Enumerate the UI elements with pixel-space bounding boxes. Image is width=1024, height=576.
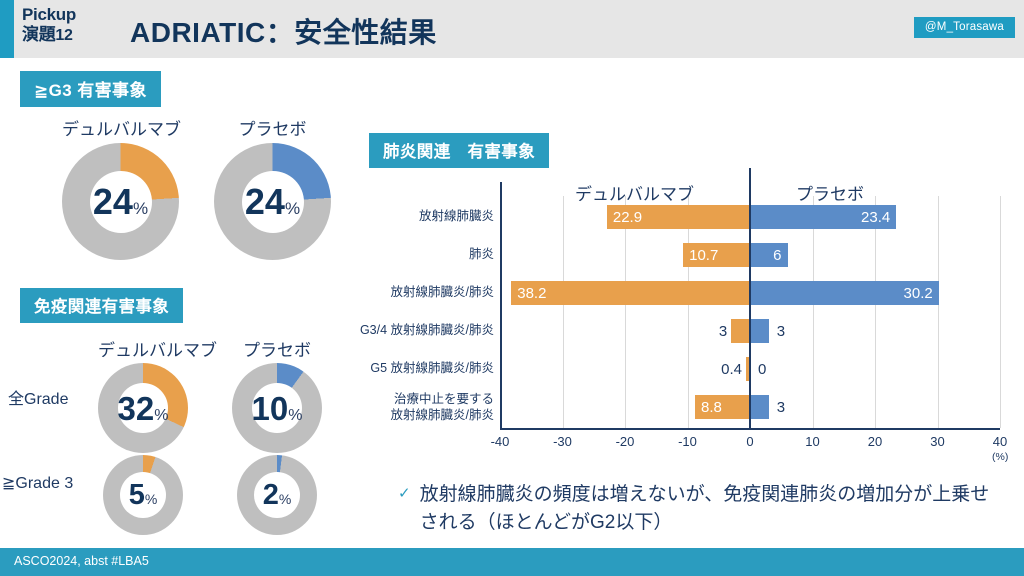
chart-bar-durvalumab: 3 xyxy=(731,319,750,343)
donut-chart: プラセボ10% xyxy=(232,363,322,453)
chart-bar-placebo: 30.2 xyxy=(750,281,939,305)
chart-bar-value-label: 38.2 xyxy=(511,285,552,302)
chart-bar-value-label: 23.4 xyxy=(855,209,896,226)
chart-unit-label: (%) xyxy=(992,451,1008,463)
chart-category-label-line: G5 放射線肺臓炎/肺炎 xyxy=(370,361,494,377)
donut-value-unit: % xyxy=(288,408,302,424)
donut-value: 10% xyxy=(252,392,303,425)
donut-ring: 10% xyxy=(232,363,322,453)
donut-caption: デュルバルマブ xyxy=(98,336,188,361)
chart-bar-placebo: 3 xyxy=(750,319,769,343)
donut-ring: 2% xyxy=(237,455,317,535)
donut-value-number: 2 xyxy=(263,481,279,510)
chart-category-label-line: 治療中止を要する xyxy=(391,392,494,408)
chart-bar-durvalumab: 10.7 xyxy=(683,243,750,267)
chart-arm-header: デュルバルマブ xyxy=(575,180,694,205)
donut-value: 2% xyxy=(263,481,292,510)
irae-row-label: 全Grade xyxy=(8,385,68,409)
donut-hole: 10% xyxy=(252,383,302,433)
chart-bar-value-label: 6 xyxy=(767,247,787,264)
chart-bar-value-label: 0.4 xyxy=(721,361,746,378)
chart-bar-value-label: 3 xyxy=(719,323,731,340)
donut-hole: 32% xyxy=(118,383,168,433)
donut-chart: 2% xyxy=(237,455,317,535)
chart-category-label: 肺炎 xyxy=(469,247,494,263)
chart-x-tick-label: -20 xyxy=(616,434,635,449)
irae-donut-group: デュルバルマブ32%プラセボ10%5%2%全Grade≧Grade 3 xyxy=(0,0,360,576)
chart-bar-value-label: 22.9 xyxy=(607,209,648,226)
donut-value: 5% xyxy=(129,481,158,510)
conclusion-block: ✓ 放射線肺臓炎の頻度は増えないが、免疫関連肺炎の増加分が上乗せされる（ほとんど… xyxy=(398,481,998,536)
donut-value: 32% xyxy=(118,392,169,425)
donut-ring: 32% xyxy=(98,363,188,453)
slide-root: Pickup 演題12 ADRIATIC：安全性結果 @M_Torasawa ≧… xyxy=(0,0,1024,576)
chart-category-label-line: 肺炎 xyxy=(469,247,494,263)
check-icon: ✓ xyxy=(398,484,411,502)
donut-value-number: 10 xyxy=(252,392,289,425)
section-badge-pneumonitis: 肺炎関連 有害事象 xyxy=(369,133,549,168)
donut-value-number: 32 xyxy=(118,392,155,425)
author-handle-badge: @M_Torasawa xyxy=(914,17,1015,38)
chart-category-label-line: 放射線肺臓炎/肺炎 xyxy=(391,408,494,424)
donut-caption: プラセボ xyxy=(232,336,322,361)
chart-bar-placebo: 23.4 xyxy=(750,205,896,229)
chart-axis-bottom xyxy=(500,428,1000,430)
chart-bar-durvalumab: 8.8 xyxy=(695,395,750,419)
chart-x-tick-label: 40 xyxy=(993,434,1007,449)
chart-bar-durvalumab: 22.9 xyxy=(607,205,750,229)
chart-bar-value-label: 3 xyxy=(769,399,785,416)
chart-bar-value-label: 30.2 xyxy=(898,285,939,302)
chart-arm-header: プラセボ xyxy=(796,180,864,205)
chart-category-label: 治療中止を要する放射線肺臓炎/肺炎 xyxy=(391,392,494,423)
donut-value-number: 5 xyxy=(129,481,145,510)
donut-chart: 5% xyxy=(103,455,183,535)
chart-x-tick-label: 20 xyxy=(868,434,882,449)
chart-axis-left xyxy=(500,182,502,430)
chart-bar-placebo: 6 xyxy=(750,243,788,267)
conclusion-text: 放射線肺臓炎の頻度は増えないが、免疫関連肺炎の増加分が上乗せされる（ほとんどがG… xyxy=(420,481,998,536)
chart-x-tick-label: -30 xyxy=(553,434,572,449)
chart-bar-value-label: 10.7 xyxy=(683,247,724,264)
donut-chart: デュルバルマブ32% xyxy=(98,363,188,453)
chart-x-tick-label: -40 xyxy=(491,434,510,449)
chart-bar-value-label: 0 xyxy=(750,361,766,378)
donut-value-unit: % xyxy=(279,492,291,506)
chart-x-tick-label: 0 xyxy=(746,434,753,449)
irae-row-label: ≧Grade 3 xyxy=(2,473,73,493)
chart-bar-value-label: 8.8 xyxy=(695,399,728,416)
donut-hole: 5% xyxy=(120,472,166,518)
chart-bar-value-label: 3 xyxy=(769,323,785,340)
donut-ring: 5% xyxy=(103,455,183,535)
pneumonitis-bar-chart: 放射線肺臓炎22.923.4肺炎10.76放射線肺臓炎/肺炎38.230.2G3… xyxy=(500,196,1000,428)
chart-gridline xyxy=(1000,196,1001,428)
chart-category-label: 放射線肺臓炎/肺炎 xyxy=(391,285,494,301)
chart-zero-line xyxy=(749,168,751,428)
chart-category-label-line: 放射線肺臓炎/肺炎 xyxy=(391,285,494,301)
chart-x-tick-label: 30 xyxy=(930,434,944,449)
donut-value-unit: % xyxy=(154,408,168,424)
chart-category-label: G3/4 放射線肺臓炎/肺炎 xyxy=(360,323,494,339)
chart-category-label-line: 放射線肺臓炎 xyxy=(419,209,494,225)
chart-bar-durvalumab: 38.2 xyxy=(511,281,750,305)
footer-citation: ASCO2024, abst #LBA5 xyxy=(14,554,149,568)
donut-hole: 2% xyxy=(254,472,300,518)
chart-category-label-line: G3/4 放射線肺臓炎/肺炎 xyxy=(360,323,494,339)
chart-x-tick-label: -10 xyxy=(678,434,697,449)
chart-category-label: 放射線肺臓炎 xyxy=(419,209,494,225)
slide-footer: ASCO2024, abst #LBA5 xyxy=(0,548,1024,576)
chart-bar-placebo: 3 xyxy=(750,395,769,419)
donut-value-unit: % xyxy=(145,492,157,506)
chart-x-tick-label: 10 xyxy=(805,434,819,449)
chart-category-label: G5 放射線肺臓炎/肺炎 xyxy=(370,361,494,377)
